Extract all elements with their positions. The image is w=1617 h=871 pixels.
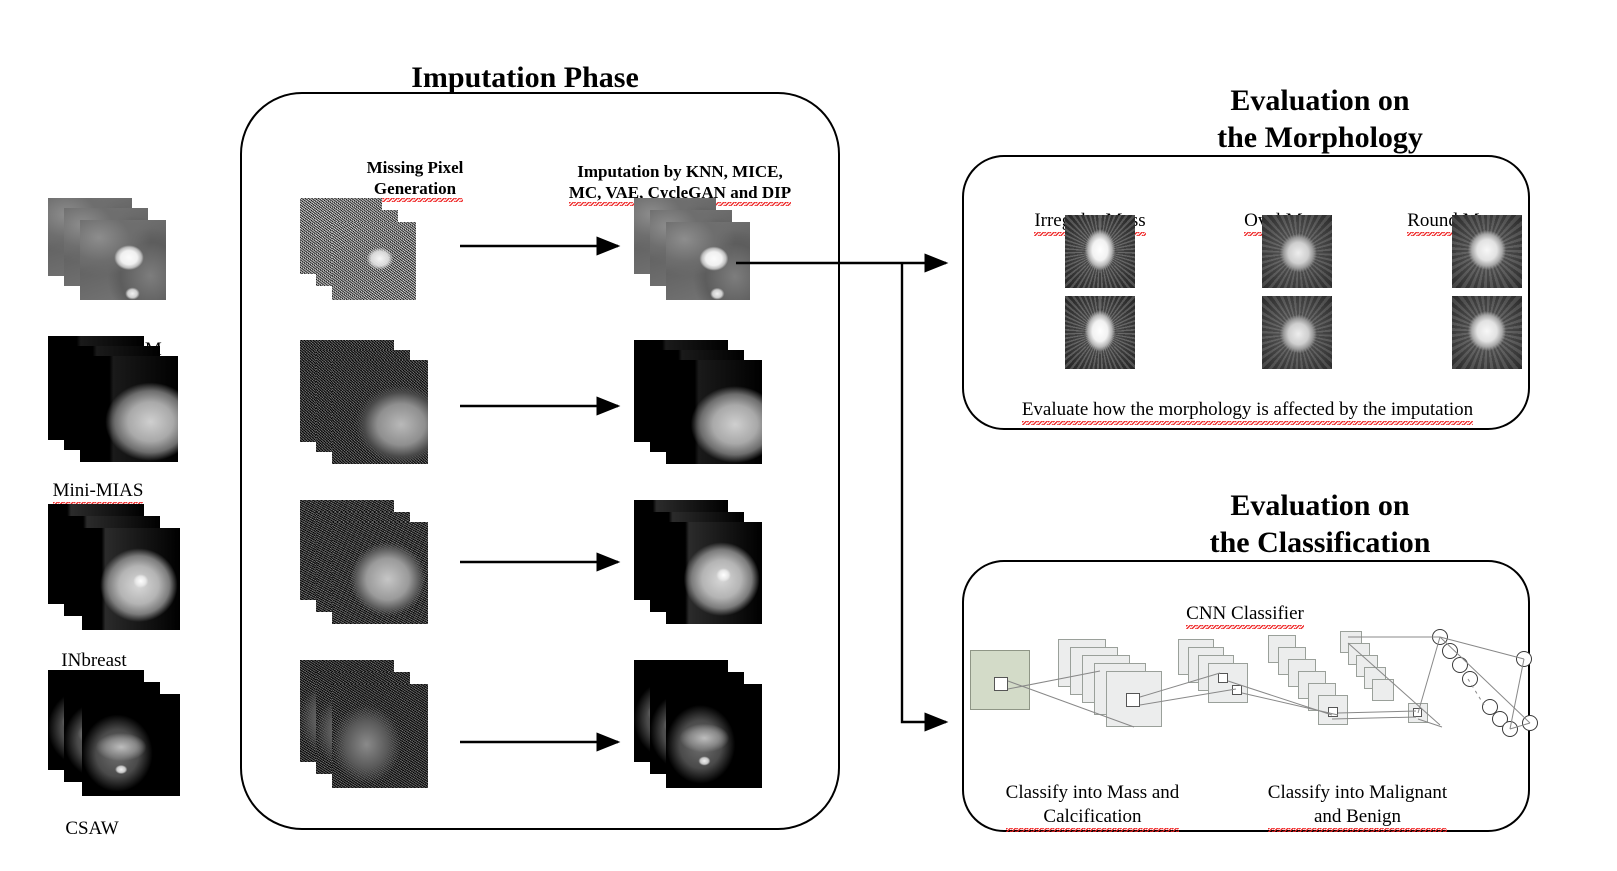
arrow-to-classification: [902, 263, 946, 722]
flow-connectors: [0, 0, 1617, 871]
figure-canvas: Imputation Phase Evaluation on the Morph…: [0, 0, 1617, 871]
